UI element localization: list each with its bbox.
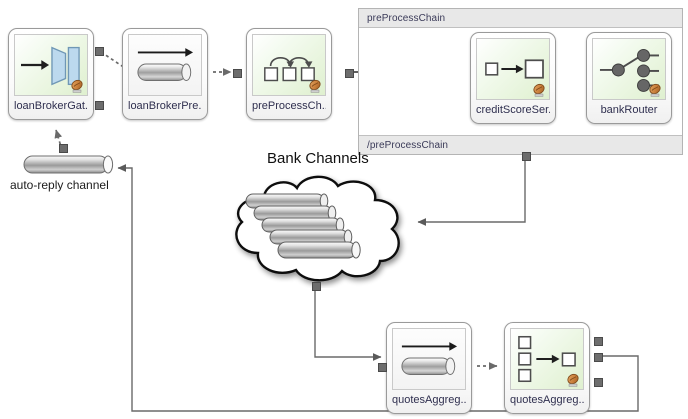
node-creditscoreservice[interactable]: creditScoreSer...: [470, 32, 556, 124]
node-icon-frame: [14, 34, 88, 96]
node-loanbrokerpreprocess[interactable]: loanBrokerPre...: [122, 28, 208, 120]
port-agg-right-bottom[interactable]: [594, 378, 603, 387]
node-label: creditScoreSer...: [476, 103, 550, 117]
node-icon-frame: [252, 34, 326, 96]
port-preprocess-out[interactable]: [345, 69, 354, 78]
port-agg-right-mid[interactable]: [594, 353, 603, 362]
bank-channels-label: Bank Channels: [267, 150, 369, 167]
port-aggchannel-in[interactable]: [378, 363, 387, 372]
channel-pipe-icon: [129, 35, 201, 95]
channel-pipe-icon: [22, 152, 118, 178]
node-icon-frame: [392, 328, 466, 390]
port-gateway-top[interactable]: [95, 47, 104, 56]
diagram-canvas: preProcessChain /preProcessChain loanBro…: [0, 0, 688, 419]
group-footer-label: /preProcessChain: [359, 135, 682, 154]
node-label: preProcessCh...: [252, 99, 326, 113]
port-gateway-bottom[interactable]: [95, 101, 104, 110]
group-header-label: preProcessChain: [359, 9, 682, 28]
node-label: loanBrokerPre...: [128, 99, 202, 113]
auto-reply-channel-shape[interactable]: [22, 152, 118, 178]
node-label: loanBrokerGat...: [14, 99, 88, 113]
auto-reply-channel-label: auto-reply channel: [10, 178, 109, 192]
port-cloud-bottom[interactable]: [312, 282, 321, 291]
channel-pipe-icon: [393, 329, 465, 389]
bank-channels-cloud[interactable]: [212, 168, 422, 288]
node-icon-frame: [128, 34, 202, 96]
port-chain-exit[interactable]: [522, 152, 531, 161]
node-label: quotesAggreg...: [510, 393, 584, 407]
cloud-of-channels-icon: [212, 168, 422, 288]
node-bankrouter[interactable]: bankRouter: [586, 32, 672, 124]
node-preprocesschain[interactable]: preProcessCh...: [246, 28, 332, 120]
conn-router-to-cloud: [418, 158, 525, 222]
port-agg-right-top[interactable]: [594, 337, 603, 346]
node-quotesaggregator-processor[interactable]: quotesAggreg...: [504, 322, 590, 414]
node-icon-frame: [476, 38, 550, 100]
node-quotesaggregator-channel[interactable]: quotesAggreg...: [386, 322, 472, 414]
node-icon-frame: [510, 328, 584, 390]
node-label: bankRouter: [592, 103, 666, 117]
conn-cloud-to-aggchannel: [315, 286, 381, 357]
java-bean-icon: [308, 78, 322, 94]
node-icon-frame: [592, 38, 666, 100]
java-bean-icon: [566, 372, 580, 388]
node-label: quotesAggreg...: [392, 393, 466, 407]
java-bean-icon: [648, 82, 662, 98]
port-autoreply-top[interactable]: [59, 144, 68, 153]
port-preprocess-in[interactable]: [233, 69, 242, 78]
node-loanbrokergateway[interactable]: loanBrokerGat...: [8, 28, 94, 120]
java-bean-icon: [532, 82, 546, 98]
java-bean-icon: [70, 78, 84, 94]
